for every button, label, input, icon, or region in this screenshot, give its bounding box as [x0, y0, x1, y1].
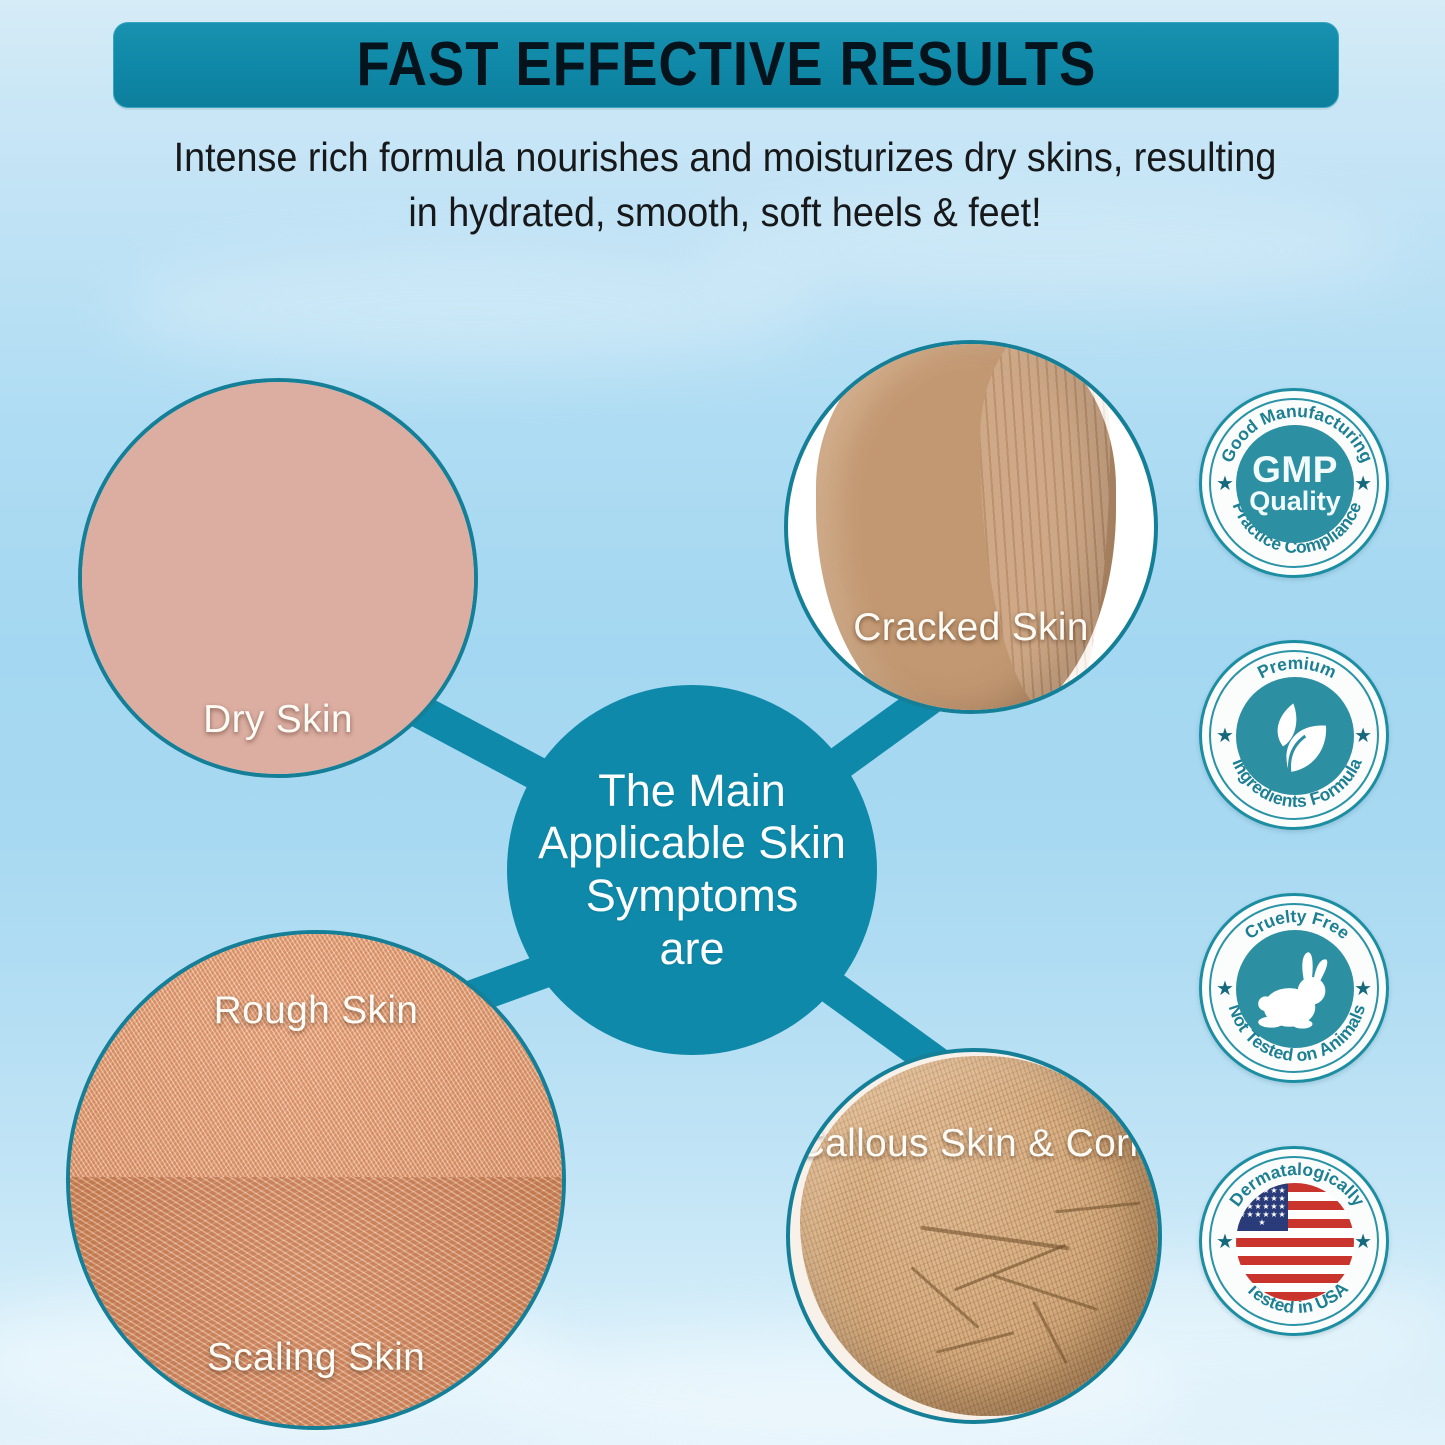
hub-line-1: The Main — [538, 765, 846, 818]
rough-skin-texture — [70, 934, 562, 1177]
rabbit-glyph — [1249, 943, 1341, 1035]
star-icon: ★ — [1354, 474, 1372, 494]
symptom-label-dry: Dry Skin — [82, 698, 474, 742]
infographic-canvas: FAST EFFECTIVE RESULTS Intense rich form… — [0, 0, 1445, 1445]
symptom-label-cracked: Cracked Skin — [788, 606, 1154, 650]
star-icon: ★ — [1216, 1232, 1234, 1252]
star-icon: ★ — [1216, 474, 1234, 494]
cloud-wisp — [120, 250, 820, 370]
rabbit-icon — [1236, 930, 1354, 1048]
star-icon: ★ — [1354, 979, 1372, 999]
badge-premium: Premium Ingredients Formula ★ ★ — [1199, 640, 1389, 830]
hub-line-4: are — [538, 923, 846, 976]
callous-heel-photo — [800, 1056, 1158, 1416]
cracked-heel-photo — [816, 340, 1116, 714]
subtitle-text: Intense rich formula nourishes and moist… — [159, 130, 1291, 239]
badge-cruelty-free: Cruelty Free Not Tested on Animals ★ ★ — [1199, 893, 1389, 1083]
badge-gmp: Good Manufacturing Practice Compliance ★… — [1199, 388, 1389, 578]
scaling-skin-texture — [70, 1177, 562, 1426]
star-icon: ★ — [1216, 726, 1234, 746]
usa-flag-icon: ★★★★★ ★★★★★ ★★★★★ ★★★★★ ★★★★★ — [1236, 1183, 1354, 1301]
subtitle-line-1: Intense rich formula nourishes and moist… — [159, 130, 1291, 185]
star-icon: ★ — [1216, 979, 1234, 999]
symptom-label-rough: Rough Skin — [70, 989, 562, 1033]
heel-contour — [980, 340, 1110, 714]
header-banner: FAST EFFECTIVE RESULTS — [113, 22, 1339, 108]
symptom-label-callous: Callous Skin & Corn — [790, 1122, 1158, 1166]
symptom-circle-dry[interactable]: Dry Skin — [78, 378, 478, 778]
center-hub: The Main Applicable Skin Symptoms are — [507, 685, 877, 1055]
badge-center-line-2: Quality — [1249, 487, 1341, 515]
hub-line-3: Symptoms — [538, 870, 846, 923]
symptom-circle-rough-scaling[interactable]: Rough Skin Scaling Skin — [66, 930, 566, 1430]
leaf-glyph — [1252, 693, 1338, 779]
subtitle-line-2: in hydrated, smooth, soft heels & feet! — [159, 185, 1291, 240]
gmp-quality-icon: GMP Quality — [1236, 425, 1354, 543]
symptom-circle-callous[interactable]: Callous Skin & Corn — [786, 1048, 1162, 1424]
star-icon: ★ — [1354, 1232, 1372, 1252]
leaf-icon — [1236, 677, 1354, 795]
hub-line-2: Applicable Skin — [538, 817, 846, 870]
usa-flag-glyph: ★★★★★ ★★★★★ ★★★★★ ★★★★★ ★★★★★ — [1236, 1183, 1354, 1301]
badge-usa-tested: Dermatalogically Tested in USA ★ ★ ★★★★★… — [1199, 1146, 1389, 1336]
badge-center-line-1: GMP — [1252, 452, 1338, 487]
flag-canton: ★★★★★ ★★★★★ ★★★★★ ★★★★★ ★★★★★ — [1236, 1183, 1288, 1231]
star-icon: ★ — [1354, 726, 1372, 746]
symptom-circle-cracked[interactable]: Cracked Skin — [784, 340, 1158, 714]
page-title: FAST EFFECTIVE RESULTS — [356, 34, 1096, 96]
hub-label: The Main Applicable Skin Symptoms are — [522, 765, 862, 976]
symptom-label-scaling: Scaling Skin — [70, 1336, 562, 1380]
